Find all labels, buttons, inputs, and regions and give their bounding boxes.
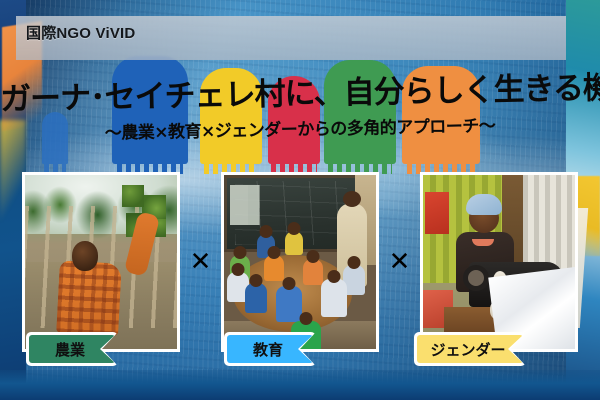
sewing-photo-scene — [423, 175, 575, 349]
plaid-shirt-torso — [57, 260, 123, 335]
pillar-label-education-text: 教育 — [253, 339, 283, 360]
farmer-head — [72, 241, 98, 271]
pillar-label-gender-text: ジェンダー — [430, 339, 505, 360]
pillar-photo-row: ✕ ✕ — [22, 172, 578, 352]
blue-head-wrap — [466, 194, 502, 215]
organization-name: 国際NGO ViVID — [26, 22, 135, 43]
poster-canvas: 国際NGO ViVID ガーナ･セイチェレ村に、自分らしく生きる機会を！ 〜農業… — [0, 0, 600, 400]
child-figure — [285, 231, 303, 255]
bottom-paint-band — [0, 370, 600, 400]
separator-multiply-2: ✕ — [379, 172, 420, 352]
woman-sewing-machine-photo — [420, 172, 578, 352]
child-figure — [276, 286, 302, 322]
child-figure — [303, 259, 323, 285]
separator-multiply-1: ✕ — [180, 172, 221, 352]
child-figure — [264, 255, 284, 281]
farmer-harvesting-papaya-photo — [22, 172, 180, 352]
pillar-label-gender: ジェンダー — [414, 332, 526, 366]
sewing-machine-wheel — [463, 265, 489, 291]
wall-poster — [425, 192, 449, 234]
classroom-children-photo — [221, 172, 379, 352]
pillar-label-agriculture-text: 農業 — [55, 339, 85, 360]
child-figure — [321, 279, 347, 317]
farm-photo-scene — [25, 175, 177, 349]
child-figure — [245, 283, 267, 313]
pillar-label-gender-fill: ジェンダー — [417, 335, 523, 363]
classroom-photo-scene — [224, 175, 376, 349]
